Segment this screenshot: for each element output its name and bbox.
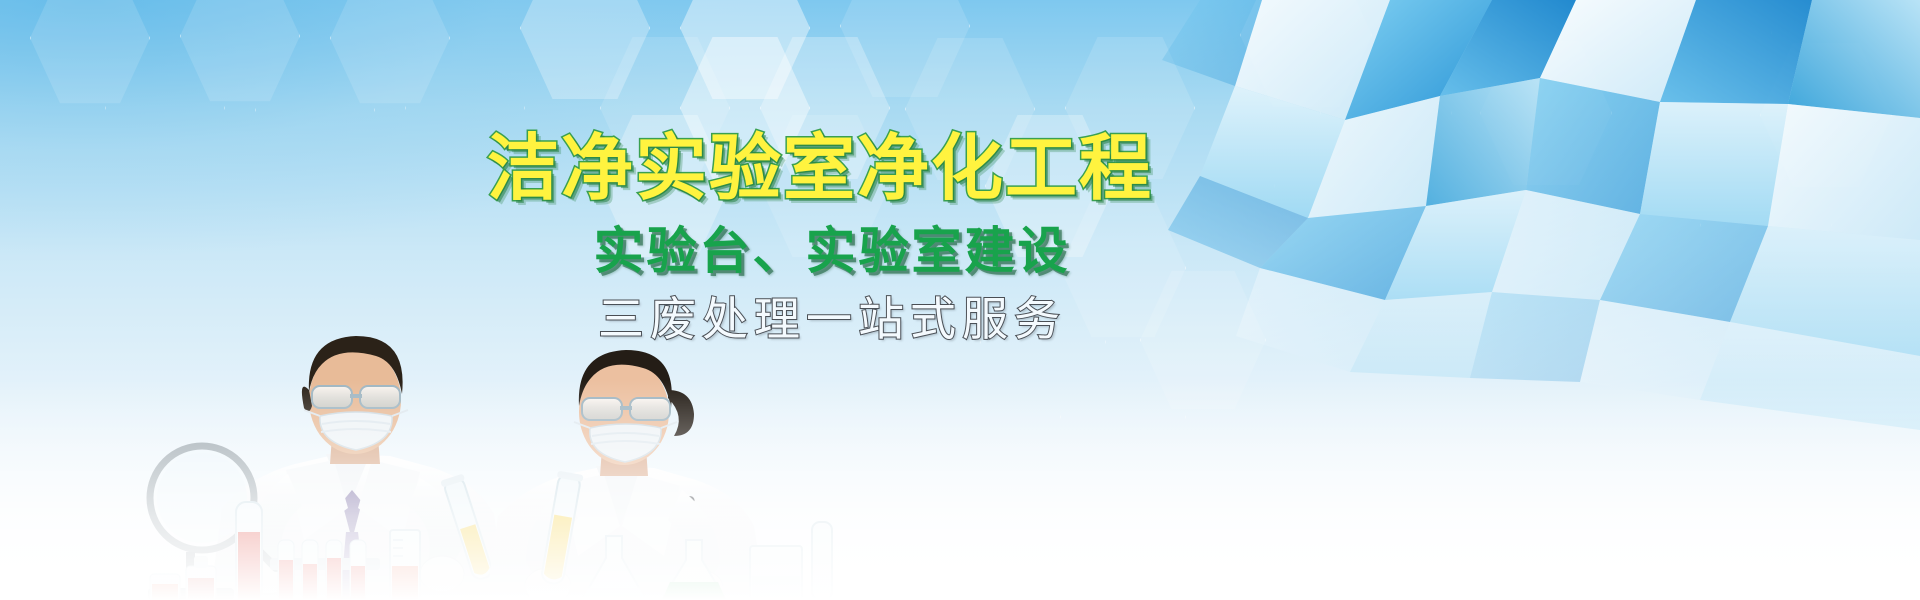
- banner-subline-green: 实验台、实验室建设: [440, 226, 1200, 276]
- promo-banner: 洁净实验室净化工程 实验台、实验室建设 三废处理一站式服务: [0, 0, 1920, 600]
- crystal-polygon-cluster: [1140, 0, 1920, 430]
- banner-headline: 洁净实验室净化工程: [440, 132, 1200, 204]
- banner-copy: 洁净实验室净化工程 实验台、实验室建设 三废处理一站式服务: [440, 132, 1200, 342]
- banner-subline-white: 三废处理一站式服务: [440, 296, 1200, 342]
- bottom-white-fade: [0, 380, 1920, 600]
- magnifier-stand: [148, 446, 276, 600]
